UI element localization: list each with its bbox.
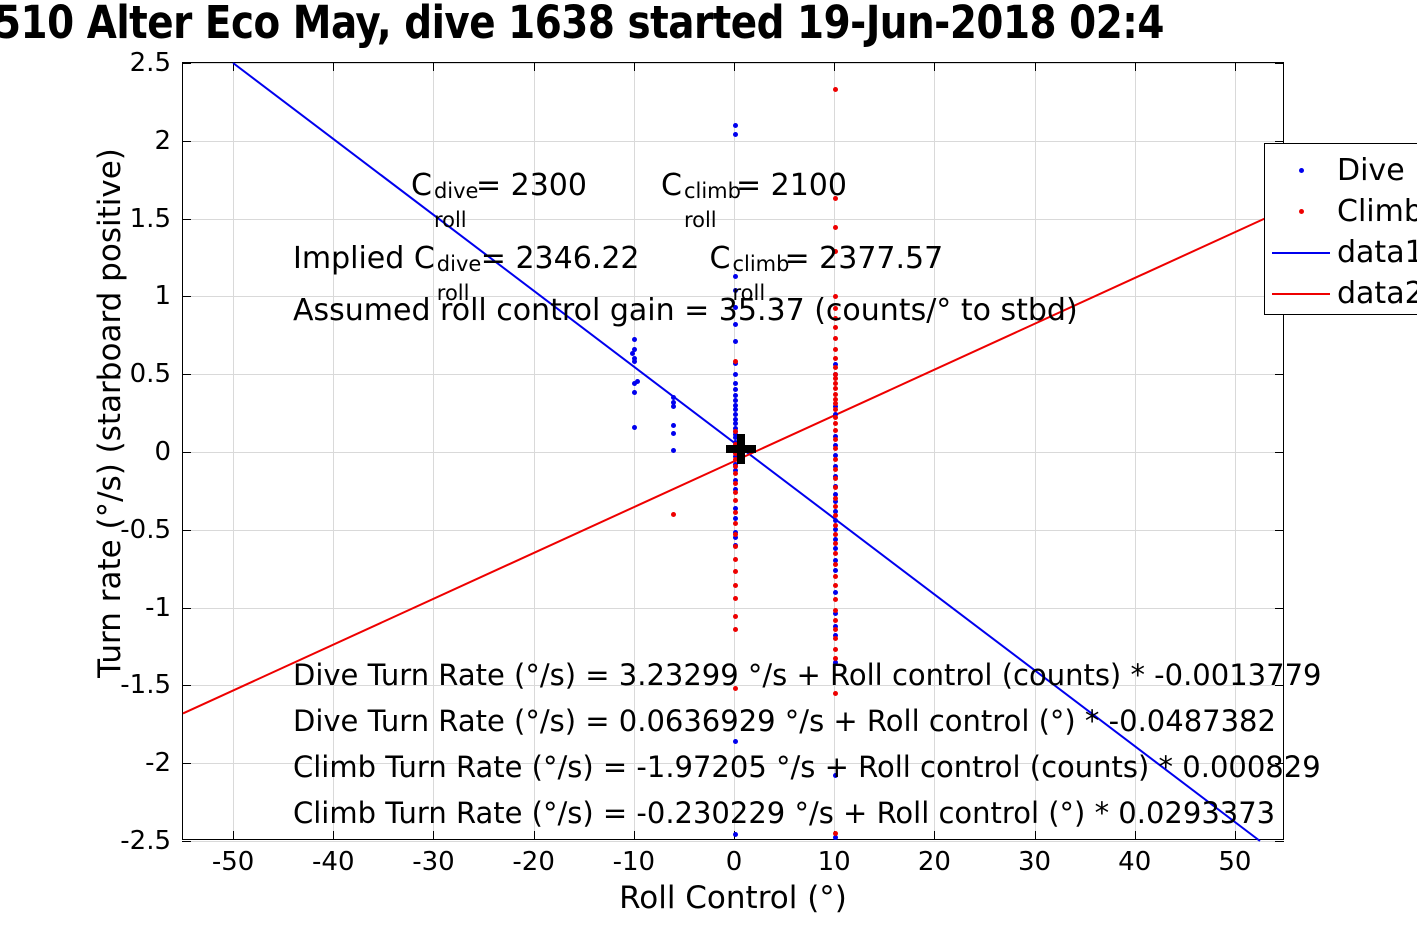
c-dive-superscript: dive (434, 179, 479, 203)
data-point-dive (833, 568, 838, 573)
data-point-climb (733, 521, 738, 526)
data-point-dive (733, 739, 738, 744)
data-point-climb (833, 627, 838, 632)
y-tick-label: -1 (75, 593, 171, 623)
annotation-c-roll-setpoints: Cdiveroll= 2300Cclimbroll= 2100 (411, 168, 883, 203)
data-point-climb (833, 347, 838, 352)
data-point-climb (733, 464, 738, 469)
x-tick-label: -10 (613, 847, 655, 877)
implied-dive-value: = 2346.22 (481, 241, 640, 276)
data-point-climb (833, 356, 838, 361)
data-point-climb (833, 647, 838, 652)
annotation-roll-control-gain: Assumed roll control gain = 35.37 (count… (293, 293, 1078, 328)
legend-item-climb[interactable]: Climb (1265, 191, 1417, 232)
c-dive-term: Cdiveroll= 2300 (411, 168, 587, 203)
x-tick-label: -40 (312, 847, 354, 877)
data-point-climb (833, 457, 838, 462)
intersection-cross-marker (726, 434, 756, 464)
legend[interactable]: DiveClimbdata1data2 (1264, 143, 1417, 315)
implied-climb-superscript: climb (732, 252, 789, 276)
data-point-climb (833, 336, 838, 341)
data-point-dive (733, 339, 738, 344)
implied-climb-value: = 2377.57 (784, 241, 943, 276)
data-point-dive (733, 123, 738, 128)
x-tick-label: 40 (1118, 847, 1151, 877)
legend-label: Dive (1337, 156, 1405, 186)
c-climb-value: = 2100 (736, 168, 847, 203)
data-point-climb (833, 562, 838, 567)
x-axis-label: Roll Control (°) (182, 880, 1284, 916)
legend-item-data2[interactable]: data2 (1265, 273, 1417, 314)
data-point-dive (733, 381, 738, 386)
data-point-climb (833, 485, 838, 490)
y-tick-label: 2.5 (75, 48, 171, 78)
data-point-climb (733, 359, 738, 364)
y-tick-label: 0 (75, 437, 171, 467)
equation-climb-counts: Climb Turn Rate (°/s) = -1.97205 °/s + R… (293, 750, 1321, 784)
y-axis-tick (1275, 841, 1284, 842)
plot-area: Cdiveroll= 2300Cclimbroll= 2100 Implied … (182, 62, 1284, 840)
y-axis-tick (182, 841, 191, 842)
data-point-climb (833, 523, 838, 528)
data-point-climb (833, 541, 838, 546)
data-point-climb (833, 608, 838, 613)
legend-swatch-icon (1272, 293, 1330, 295)
implied-climb-term: Cclimbroll= 2377.57 (710, 241, 944, 276)
y-tick-label: -1.5 (75, 670, 171, 700)
data-point-climb (833, 831, 838, 836)
data-point-climb (733, 557, 738, 562)
data-point-climb (733, 498, 738, 503)
y-tick-label: -2 (75, 748, 171, 778)
data-point-climb (733, 481, 738, 486)
legend-line-swatch (1265, 252, 1337, 254)
data-point-dive (632, 425, 637, 430)
legend-label: data2 (1337, 279, 1417, 309)
equation-climb-degrees: Climb Turn Rate (°/s) = -0.230229 °/s + … (293, 796, 1275, 830)
equation-dive-counts: Dive Turn Rate (°/s) = 3.23299 °/s + Rol… (293, 658, 1321, 692)
data-point-climb (833, 504, 838, 509)
data-point-climb (733, 510, 738, 515)
data-point-dive (733, 832, 738, 837)
y-tick-label: 0.5 (75, 359, 171, 389)
grid-line-horizontal (183, 841, 1283, 842)
data-point-climb (833, 618, 838, 623)
data-point-climb (833, 532, 838, 537)
annotation-implied-c-roll: Implied Cdiveroll= 2346.22Cclimbroll= 23… (293, 241, 979, 276)
legend-line-swatch (1265, 293, 1337, 295)
data-point-dive (733, 132, 738, 137)
data-point-climb (833, 496, 838, 501)
data-point-climb (833, 574, 838, 579)
legend-swatch-icon (1272, 252, 1330, 254)
x-tick-label: 0 (726, 847, 743, 877)
data-point-climb (733, 627, 738, 632)
data-point-climb (733, 532, 738, 537)
legend-swatch-icon (1299, 168, 1304, 173)
y-tick-label: -2.5 (75, 826, 171, 856)
data-point-climb (833, 386, 838, 391)
legend-dot-swatch (1265, 209, 1337, 214)
data-point-climb (833, 401, 838, 406)
data-point-climb (833, 467, 838, 472)
x-tick-label: -50 (212, 847, 254, 877)
data-point-climb (733, 583, 738, 588)
legend-item-dive[interactable]: Dive (1265, 150, 1417, 191)
c-climb-term: Cclimbroll= 2100 (661, 168, 847, 203)
x-tick-label: -20 (512, 847, 554, 877)
data-point-climb (833, 87, 838, 92)
c-dive-value: = 2300 (476, 168, 587, 203)
data-point-climb (733, 471, 738, 476)
legend-item-data1[interactable]: data1 (1265, 232, 1417, 273)
page-title: 510 Alter Eco May, dive 1638 started 19-… (0, 0, 1360, 50)
x-tick-label: -30 (412, 847, 454, 877)
y-tick-label: 2 (75, 126, 171, 156)
x-tick-label: 30 (1018, 847, 1051, 877)
data-point-dive (733, 372, 738, 377)
equation-dive-degrees: Dive Turn Rate (°/s) = 0.0636929 °/s + R… (293, 704, 1276, 738)
c-dive-subscript: roll (434, 208, 467, 232)
c-climb-superscript: climb (684, 179, 741, 203)
implied-dive-term: Implied Cdiveroll= 2346.22 (293, 241, 640, 276)
data-point-climb (733, 569, 738, 574)
data-point-climb (833, 428, 838, 433)
y-tick-label: 1.5 (75, 204, 171, 234)
data-point-climb (833, 636, 838, 641)
legend-label: Climb (1337, 197, 1417, 227)
legend-swatch-icon (1299, 209, 1304, 214)
y-tick-label: 1 (75, 281, 171, 311)
legend-label: data1 (1337, 238, 1417, 268)
data-point-climb (733, 596, 738, 601)
data-point-climb (833, 437, 838, 442)
data-point-climb (833, 513, 838, 518)
c-climb-subscript: roll (684, 208, 717, 232)
data-point-climb (833, 415, 838, 420)
x-tick-label: 50 (1218, 847, 1251, 877)
data-point-climb (733, 544, 738, 549)
implied-dive-superscript: dive (437, 252, 482, 276)
legend-dot-swatch (1265, 168, 1337, 173)
data-point-dive (733, 387, 738, 392)
data-point-climb (833, 551, 838, 556)
x-tick-label: 20 (918, 847, 951, 877)
data-point-dive (833, 590, 838, 595)
y-tick-label: -0.5 (75, 515, 171, 545)
x-tick-label: 10 (818, 847, 851, 877)
data-point-climb (733, 490, 738, 495)
data-point-climb (833, 476, 838, 481)
